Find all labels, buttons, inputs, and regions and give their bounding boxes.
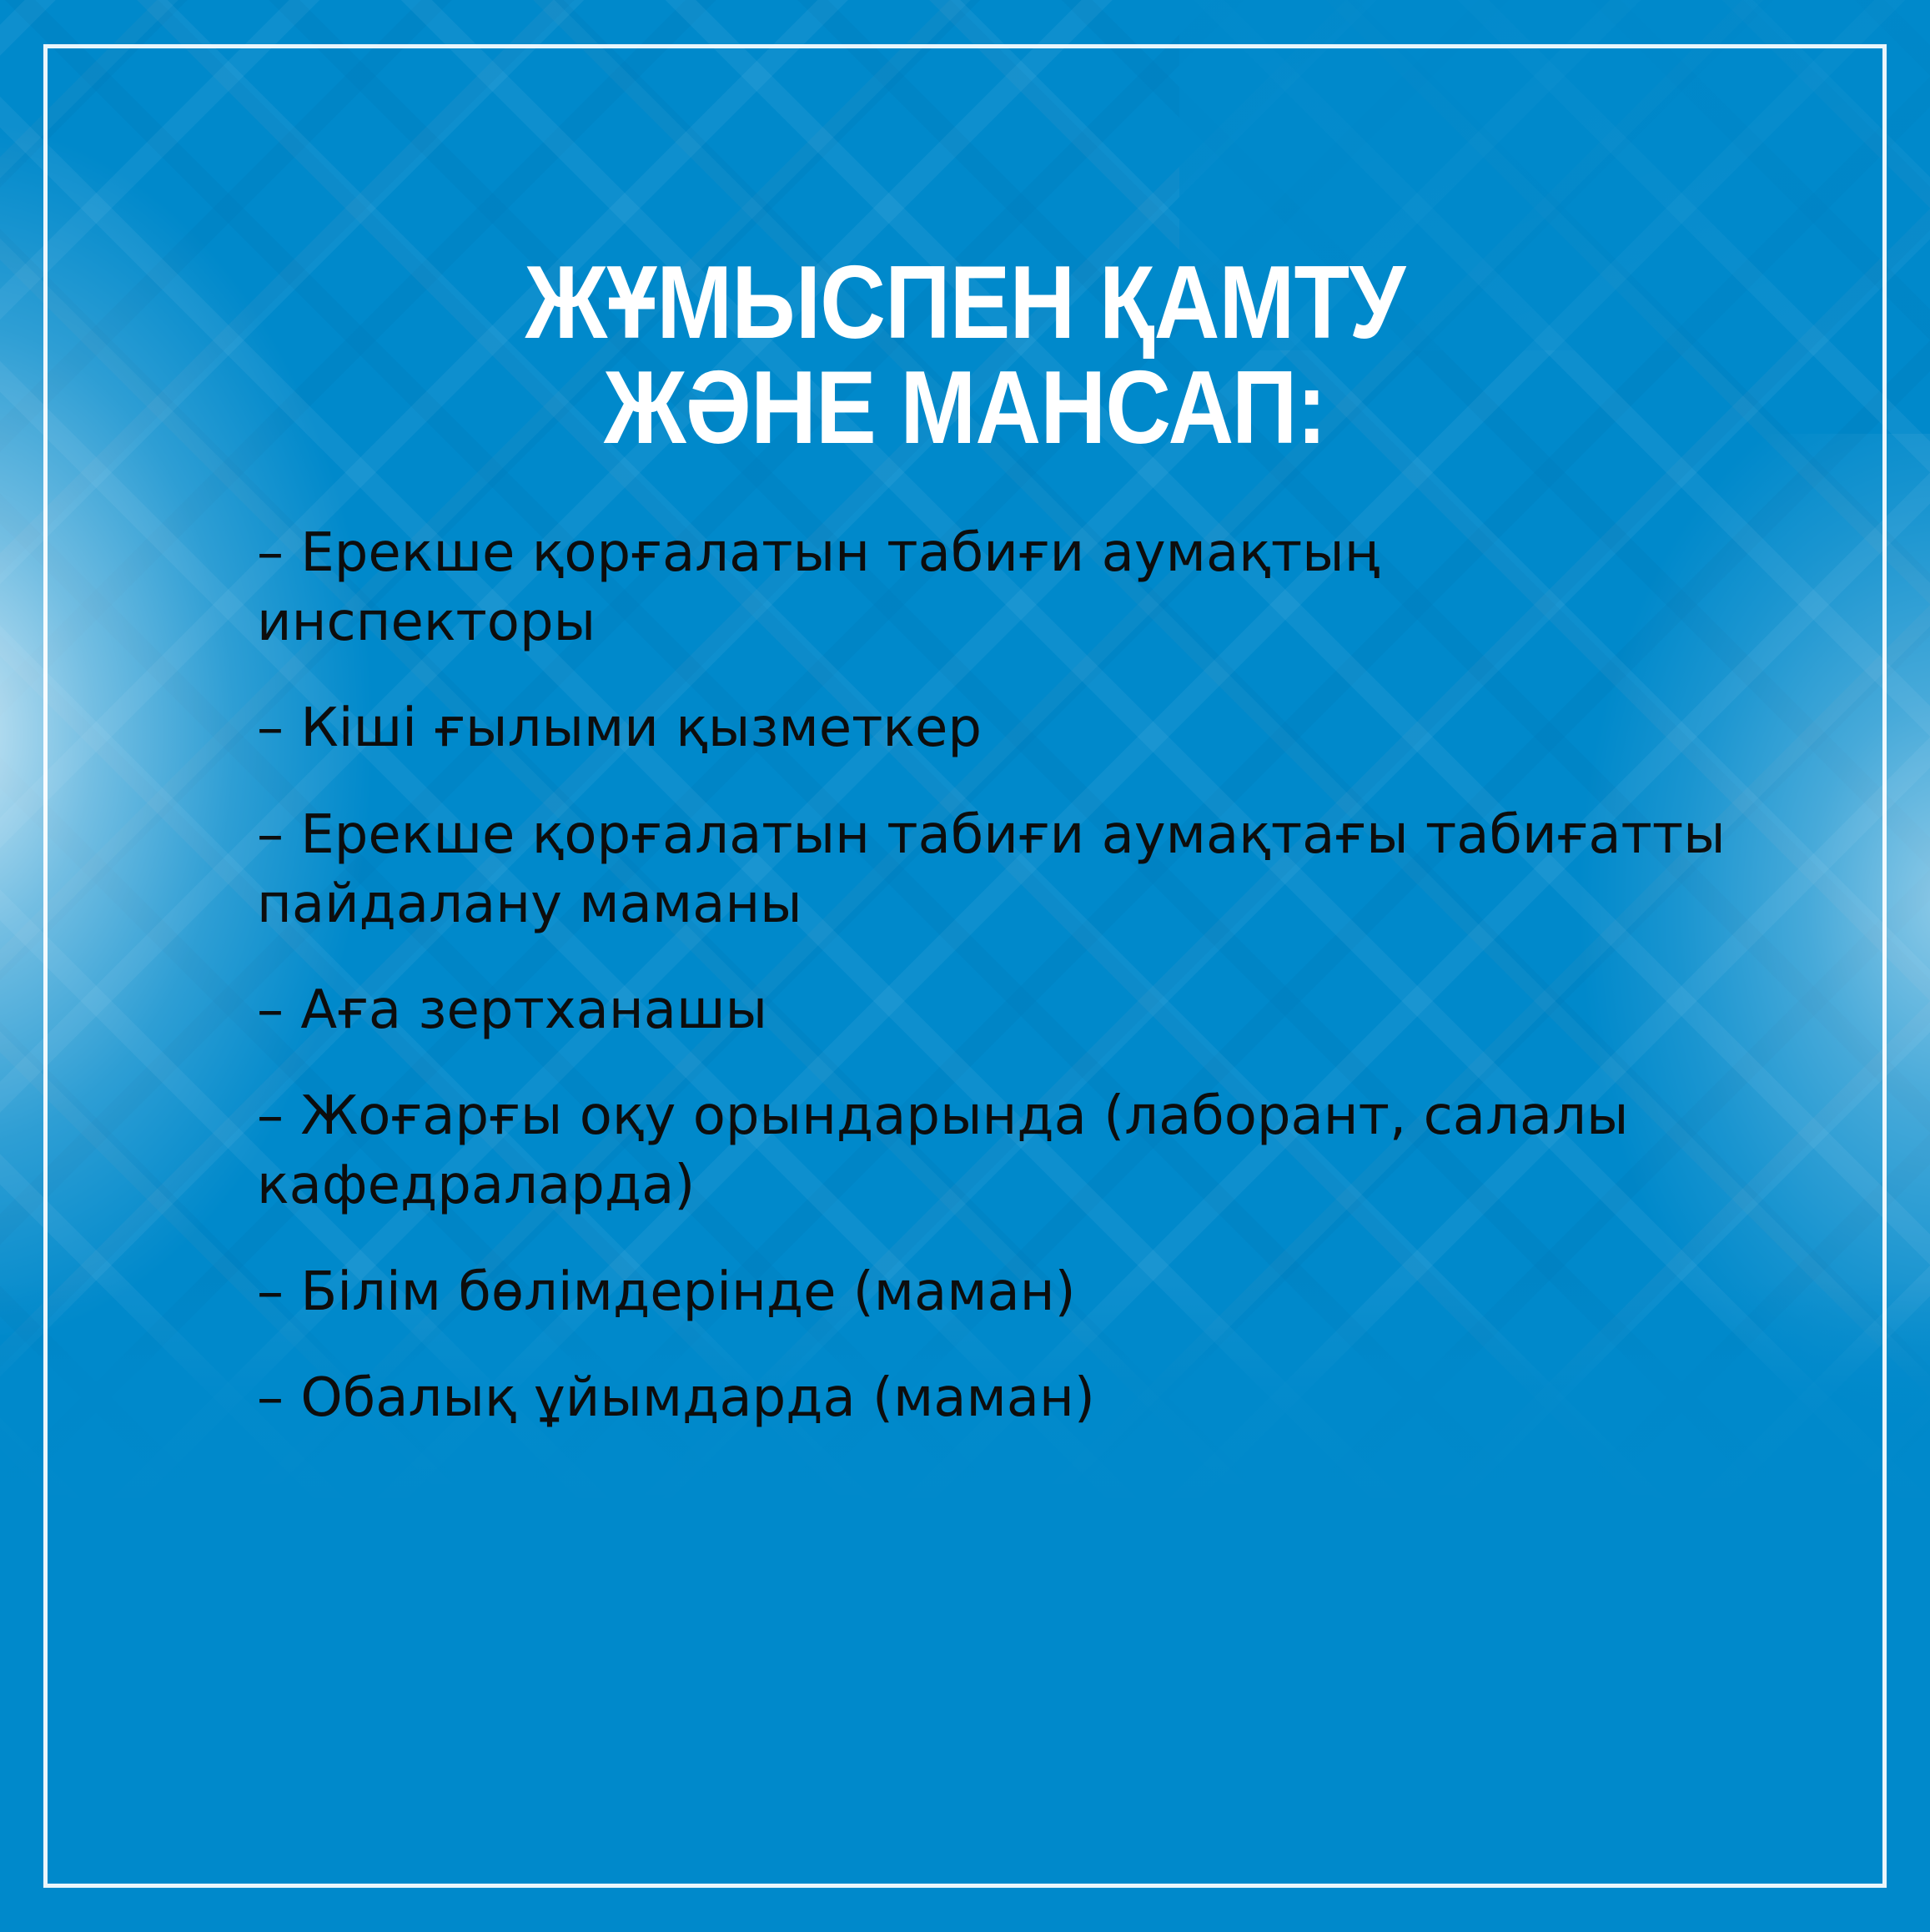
list-item: – Кіші ғылыми қызметкер bbox=[257, 694, 1725, 763]
list-item: – Білім бөлімдерінде (маман) bbox=[257, 1258, 1725, 1327]
list-item: – Жоғарғы оқу орындарында (лаборант, сал… bbox=[257, 1082, 1725, 1220]
slide-canvas: ЖҰМЫСПЕН ҚАМТУ ЖӘНЕ МАНСАП: – Ерекше қор… bbox=[0, 0, 1930, 1932]
list-item: – Аға зертханашы bbox=[257, 976, 1725, 1045]
list-item: – Обалық ұйымдарда (маман) bbox=[257, 1364, 1725, 1433]
list-item: – Ерекше қорғалатын табиғи аумақтың инсп… bbox=[257, 519, 1725, 657]
career-list: – Ерекше қорғалатын табиғи аумақтың инсп… bbox=[257, 519, 1725, 1433]
slide-content: ЖҰМЫСПЕН ҚАМТУ ЖӘНЕ МАНСАП: – Ерекше қор… bbox=[0, 0, 1930, 1932]
page-title: ЖҰМЫСПЕН ҚАМТУ ЖӘНЕ МАНСАП: bbox=[116, 250, 1814, 461]
list-item: – Ерекше қорғалатын табиғи аумақтағы таб… bbox=[257, 801, 1750, 939]
